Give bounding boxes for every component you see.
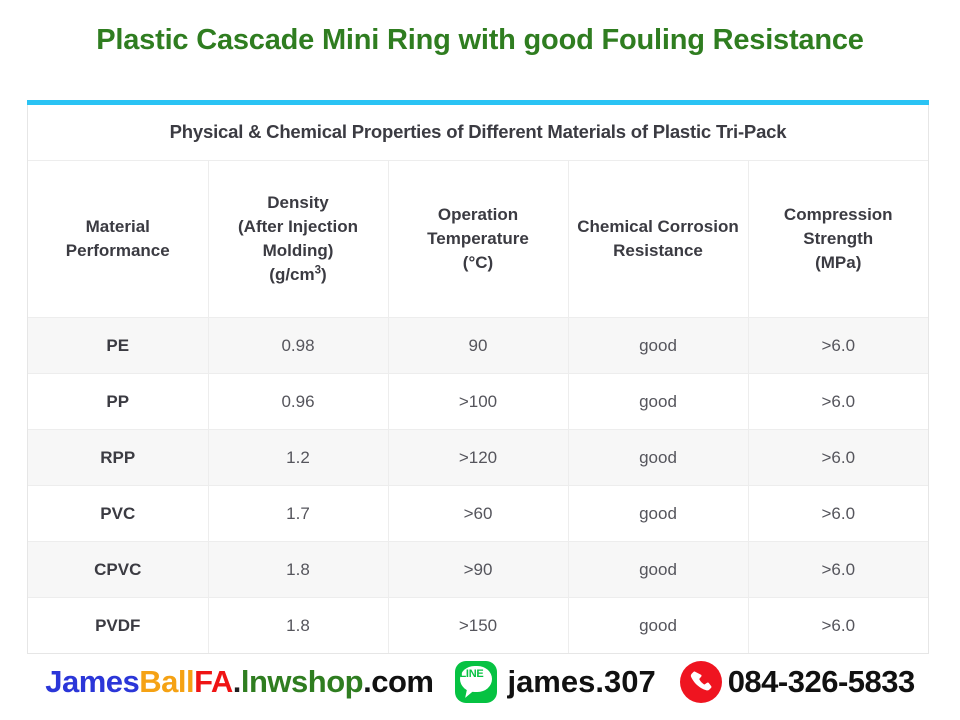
website-url[interactable]: JamesBallFA.lnwshop.com — [45, 664, 433, 700]
cell-temperature: 90 — [388, 318, 568, 374]
header-line: Density — [215, 191, 382, 215]
cell-compression: >6.0 — [748, 374, 928, 430]
line-icon-label: LINE — [455, 661, 487, 687]
page-title: Plastic Cascade Mini Ring with good Foul… — [0, 24, 960, 57]
cell-compression: >6.0 — [748, 430, 928, 486]
header-line: Compression — [755, 203, 923, 227]
column-header-density: Density (After Injection Molding) (g/cm3… — [208, 161, 388, 318]
url-part-james: James — [45, 664, 139, 699]
footer-contact-bar: JamesBallFA.lnwshop.com LINE james.307 0… — [0, 652, 960, 712]
cell-compression: >6.0 — [748, 486, 928, 542]
phone-icon[interactable] — [680, 661, 722, 703]
cell-corrosion: good — [568, 374, 748, 430]
table-row: PVDF 1.8 >150 good >6.0 — [28, 598, 928, 654]
header-line: Strength — [755, 227, 923, 251]
header-line: (°C) — [395, 251, 562, 275]
url-part-com: .com — [363, 664, 433, 699]
table-caption: Physical & Chemical Properties of Differ… — [28, 100, 928, 161]
cell-material: PVC — [28, 486, 208, 542]
cell-material: RPP — [28, 430, 208, 486]
cell-material: CPVC — [28, 542, 208, 598]
cell-density: 1.8 — [208, 542, 388, 598]
table-header-row: Material Performance Density (After Inje… — [28, 161, 928, 318]
cell-temperature: >100 — [388, 374, 568, 430]
header-line: Material — [34, 215, 202, 239]
phone-number-text: 084-326-5833 — [728, 664, 915, 700]
column-header-compression: Compression Strength (MPa) — [748, 161, 928, 318]
url-part-ball: Ball — [139, 664, 194, 699]
table-row: PE 0.98 90 good >6.0 — [28, 318, 928, 374]
cell-compression: >6.0 — [748, 542, 928, 598]
header-line: (MPa) — [755, 251, 923, 275]
header-line: Performance — [34, 239, 202, 263]
table-row: RPP 1.2 >120 good >6.0 — [28, 430, 928, 486]
cell-density: 1.7 — [208, 486, 388, 542]
accent-bar — [27, 100, 929, 105]
cell-temperature: >90 — [388, 542, 568, 598]
cell-material: PVDF — [28, 598, 208, 654]
density-unit-close: ) — [321, 265, 327, 284]
header-line-units: (g/cm3) — [215, 263, 382, 287]
table-caption-row: Physical & Chemical Properties of Differ… — [28, 100, 928, 161]
cell-compression: >6.0 — [748, 318, 928, 374]
cell-temperature: >150 — [388, 598, 568, 654]
cell-density: 0.98 — [208, 318, 388, 374]
column-header-material: Material Performance — [28, 161, 208, 318]
column-header-temperature: Operation Temperature (°C) — [388, 161, 568, 318]
table-row: PP 0.96 >100 good >6.0 — [28, 374, 928, 430]
cell-corrosion: good — [568, 486, 748, 542]
url-part-fa: FA — [194, 664, 233, 699]
cell-material: PE — [28, 318, 208, 374]
url-part-lnwshop: lnwshop — [241, 664, 363, 699]
cell-density: 1.8 — [208, 598, 388, 654]
cell-material: PP — [28, 374, 208, 430]
cell-compression: >6.0 — [748, 598, 928, 654]
properties-table-container: Physical & Chemical Properties of Differ… — [27, 100, 929, 654]
cell-corrosion: good — [568, 430, 748, 486]
header-line: Operation — [395, 203, 562, 227]
url-part-dot: . — [233, 664, 241, 699]
table-row: PVC 1.7 >60 good >6.0 — [28, 486, 928, 542]
cell-temperature: >60 — [388, 486, 568, 542]
line-icon[interactable]: LINE — [455, 661, 497, 703]
cell-corrosion: good — [568, 318, 748, 374]
header-line: (After Injection — [215, 215, 382, 239]
cell-temperature: >120 — [388, 430, 568, 486]
header-line: Temperature — [395, 227, 562, 251]
cell-density: 1.2 — [208, 430, 388, 486]
density-unit-base: (g/cm — [269, 265, 314, 284]
phone-handset-glyph — [688, 669, 714, 695]
cell-corrosion: good — [568, 598, 748, 654]
cell-density: 0.96 — [208, 374, 388, 430]
table-row: CPVC 1.8 >90 good >6.0 — [28, 542, 928, 598]
header-line: Resistance — [575, 239, 742, 263]
cell-corrosion: good — [568, 542, 748, 598]
column-header-corrosion: Chemical Corrosion Resistance — [568, 161, 748, 318]
line-id-text: james.307 — [507, 664, 655, 700]
header-line: Chemical Corrosion — [575, 215, 742, 239]
header-line: Molding) — [215, 239, 382, 263]
properties-table: Physical & Chemical Properties of Differ… — [28, 100, 928, 653]
